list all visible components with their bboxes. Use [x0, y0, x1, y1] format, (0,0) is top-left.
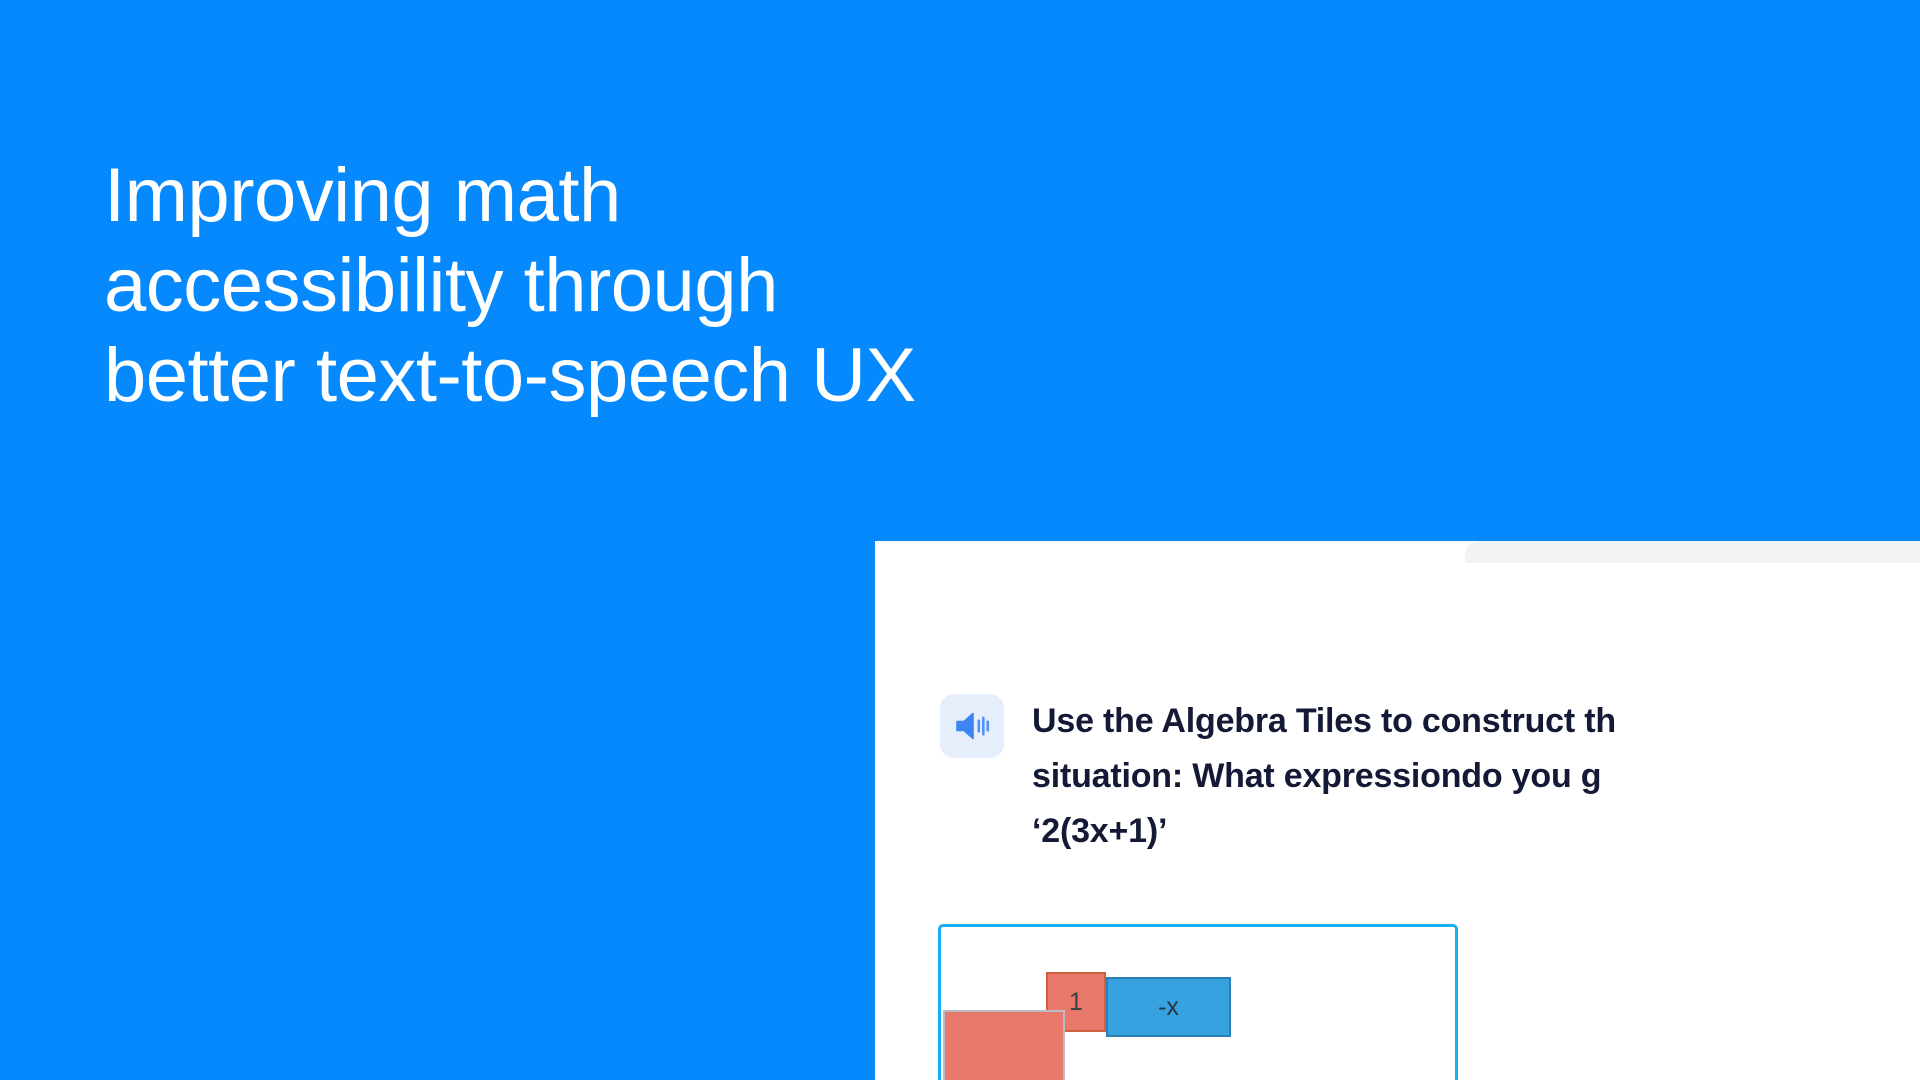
algebra-tile-negative-x[interactable]: -x: [1106, 977, 1231, 1037]
speaker-wave-icon: [955, 711, 989, 741]
page-title: Improving math accessibility through bet…: [104, 151, 1304, 421]
algebra-tile-negative-x-label: -x: [1158, 993, 1179, 1022]
prompt-row: Use the Algebra Tiles to construct th si…: [940, 694, 1920, 859]
app-screenshot-card: Use the Algebra Tiles to construct th si…: [875, 541, 1920, 1080]
prompt-text: Use the Algebra Tiles to construct th si…: [1032, 694, 1616, 859]
algebra-tiles-board[interactable]: 1 -x x2: [938, 924, 1458, 1080]
slide-canvas: Improving math accessibility through bet…: [0, 0, 1920, 1080]
algebra-tile-one-label: 1: [1069, 988, 1083, 1017]
algebra-tile-x-squared[interactable]: x2: [943, 1010, 1065, 1080]
hero-background-lower-left: [0, 541, 875, 1080]
app-chrome-bar: [1465, 541, 1920, 563]
speaker-wave-icon-button[interactable]: [940, 694, 1004, 758]
